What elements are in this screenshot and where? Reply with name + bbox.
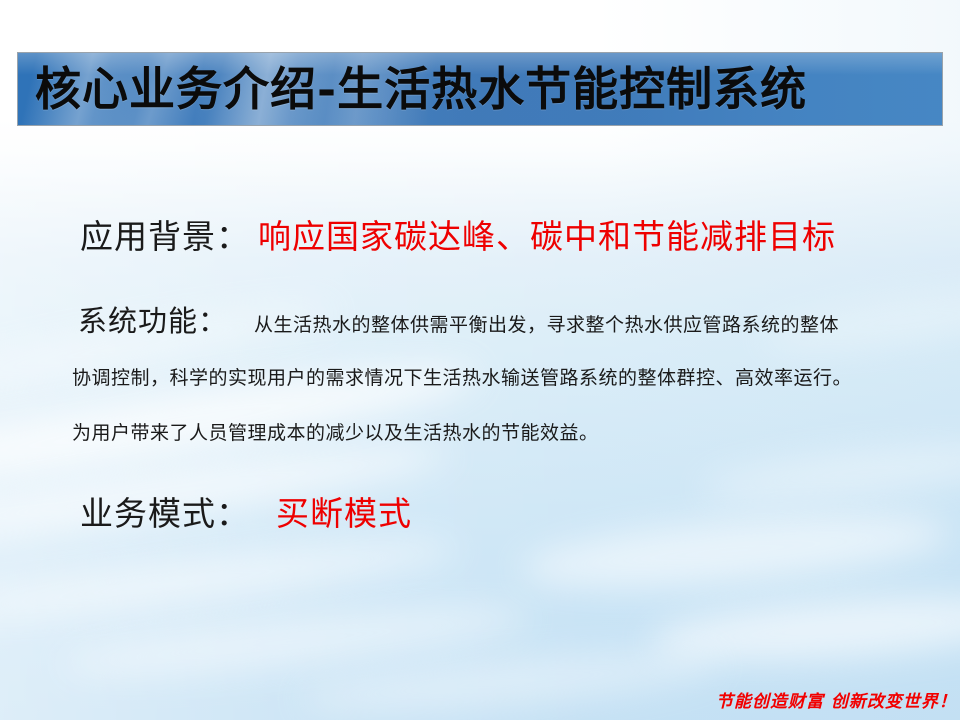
system-function-line-2: 协调控制，科学的实现用户的需求情况下生活热水输送管路系统的整体群控、高效率运行。 xyxy=(72,367,852,389)
section-system-function: 系统功能：从生活热水的整体供需平衡出发，寻求整个热水供应管路系统的整体 xyxy=(78,298,839,340)
system-function-line-1: 从生活热水的整体供需平衡出发，寻求整个热水供应管路系统的整体 xyxy=(254,314,839,336)
footer-slogan: 节能创造财富 创新改变世界！ xyxy=(716,687,957,712)
system-function-line-3: 为用户带来了人员管理成本的减少以及生活热水的节能效益。 xyxy=(72,422,599,444)
section-business-mode: 业务模式：买断模式 xyxy=(80,487,412,535)
system-function-line-2-row: 协调控制，科学的实现用户的需求情况下生活热水输送管路系统的整体群控、高效率运行。 xyxy=(72,363,852,390)
application-background-label: 应用背景： xyxy=(80,217,250,256)
section-application-background: 应用背景：响应国家碳达峰、碳中和节能减排目标 xyxy=(80,210,836,258)
slide-title: 核心业务介绍-生活热水节能控制系统 xyxy=(35,66,807,112)
application-background-value: 响应国家碳达峰、碳中和节能减排目标 xyxy=(258,217,836,256)
system-function-label: 系统功能： xyxy=(78,304,228,338)
system-function-line-3-row: 为用户带来了人员管理成本的减少以及生活热水的节能效益。 xyxy=(72,418,599,445)
presentation-slide: 核心业务介绍-生活热水节能控制系统 应用背景：响应国家碳达峰、碳中和节能减排目标… xyxy=(0,0,960,720)
business-mode-label: 业务模式： xyxy=(80,494,250,533)
slide-title-banner: 核心业务介绍-生活热水节能控制系统 xyxy=(17,52,943,126)
business-mode-value: 买断模式 xyxy=(276,494,412,533)
